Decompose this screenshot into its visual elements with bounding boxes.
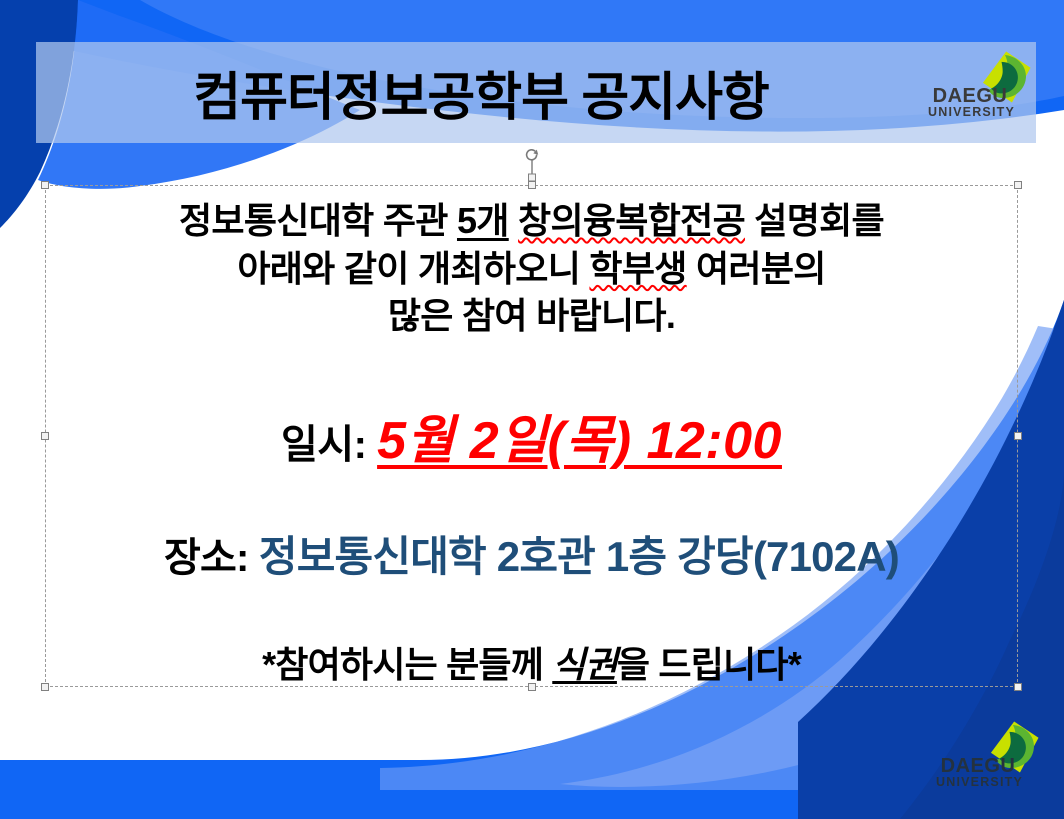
page-title: 컴퓨터정보공학부 공지사항 (36, 42, 926, 143)
text-box-selection-frame[interactable] (45, 185, 1018, 687)
logo-name-top: DAEGU (928, 86, 1012, 106)
resize-handle-bottom-center[interactable] (528, 683, 536, 691)
resize-handle-bottom-right[interactable] (1014, 683, 1022, 691)
logo-name-top: DAEGU (936, 756, 1020, 776)
footer-logo: DAEGU UNIVERSITY (936, 718, 1044, 804)
header-logo: DAEGU UNIVERSITY (928, 48, 1036, 134)
resize-handle-middle-right[interactable] (1014, 432, 1022, 440)
resize-handle-top-center[interactable] (528, 181, 536, 189)
logo-wordmark: DAEGU UNIVERSITY (936, 756, 1020, 789)
resize-handle-bottom-left[interactable] (41, 683, 49, 691)
resize-handle-top-right[interactable] (1014, 181, 1022, 189)
slide-canvas: 컴퓨터정보공학부 공지사항 DAEGU UNIVERSITY DAEGU UNI… (0, 0, 1064, 819)
resize-handle-middle-left[interactable] (41, 432, 49, 440)
resize-handle-top-left[interactable] (41, 181, 49, 189)
logo-name-bottom: UNIVERSITY (928, 106, 1012, 119)
logo-name-bottom: UNIVERSITY (936, 776, 1020, 789)
logo-wordmark: DAEGU UNIVERSITY (928, 86, 1012, 119)
rotate-handle-icon[interactable] (523, 148, 541, 182)
